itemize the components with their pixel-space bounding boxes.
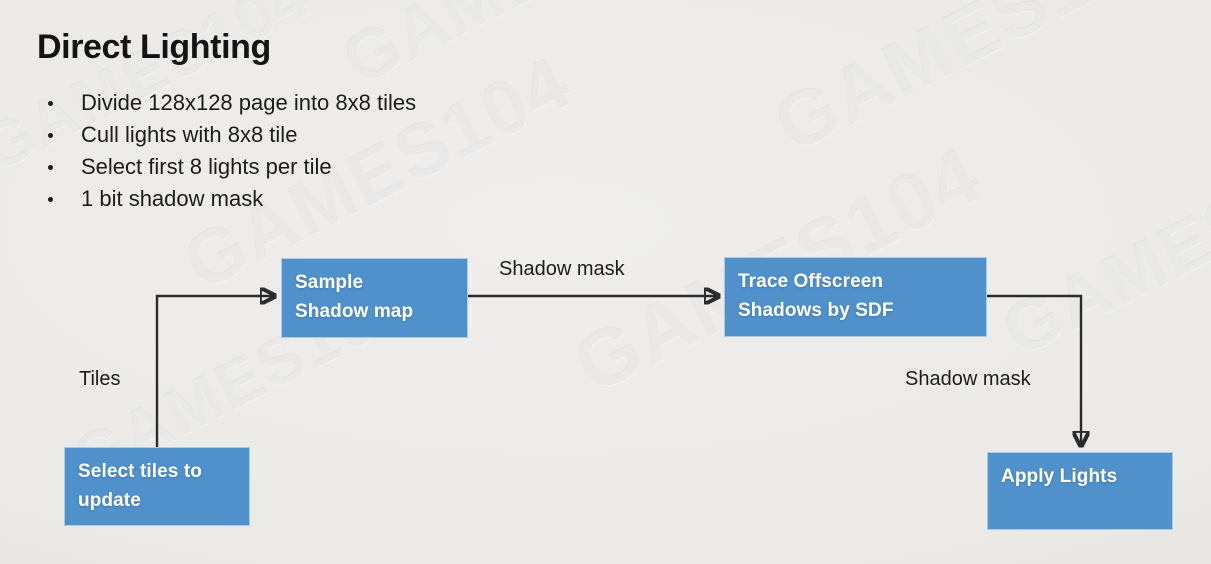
edge-select-to-sample bbox=[157, 296, 275, 447]
node-line-2: Shadows by SDF bbox=[738, 296, 986, 325]
node-line-2: Shadow map bbox=[295, 297, 467, 326]
node-trace-offscreen-shadows[interactable]: Trace Offscreen Shadows by SDF bbox=[724, 257, 987, 337]
node-select-tiles[interactable]: Select tiles to update bbox=[64, 447, 250, 526]
slide-canvas: GAMES104 GAMES104 GAMES104 GAMES104 GAME… bbox=[0, 0, 1211, 564]
node-apply-lights[interactable]: Apply Lights bbox=[987, 452, 1173, 530]
node-line-1: Select tiles to bbox=[78, 457, 249, 486]
edge-label-shadow-mask-right: Shadow mask bbox=[905, 368, 1031, 391]
node-sample-shadow-map[interactable]: Sample Shadow map bbox=[281, 258, 468, 338]
edge-label-tiles: Tiles bbox=[79, 368, 120, 391]
flow-diagram: Select tiles to update Sample Shadow map… bbox=[0, 0, 1211, 564]
node-line-1: Trace Offscreen bbox=[738, 267, 986, 296]
node-line-1: Sample bbox=[295, 268, 467, 297]
node-line-2: update bbox=[78, 486, 249, 515]
edge-label-shadow-mask-top: Shadow mask bbox=[499, 258, 625, 281]
node-line-1: Apply Lights bbox=[1001, 462, 1172, 491]
